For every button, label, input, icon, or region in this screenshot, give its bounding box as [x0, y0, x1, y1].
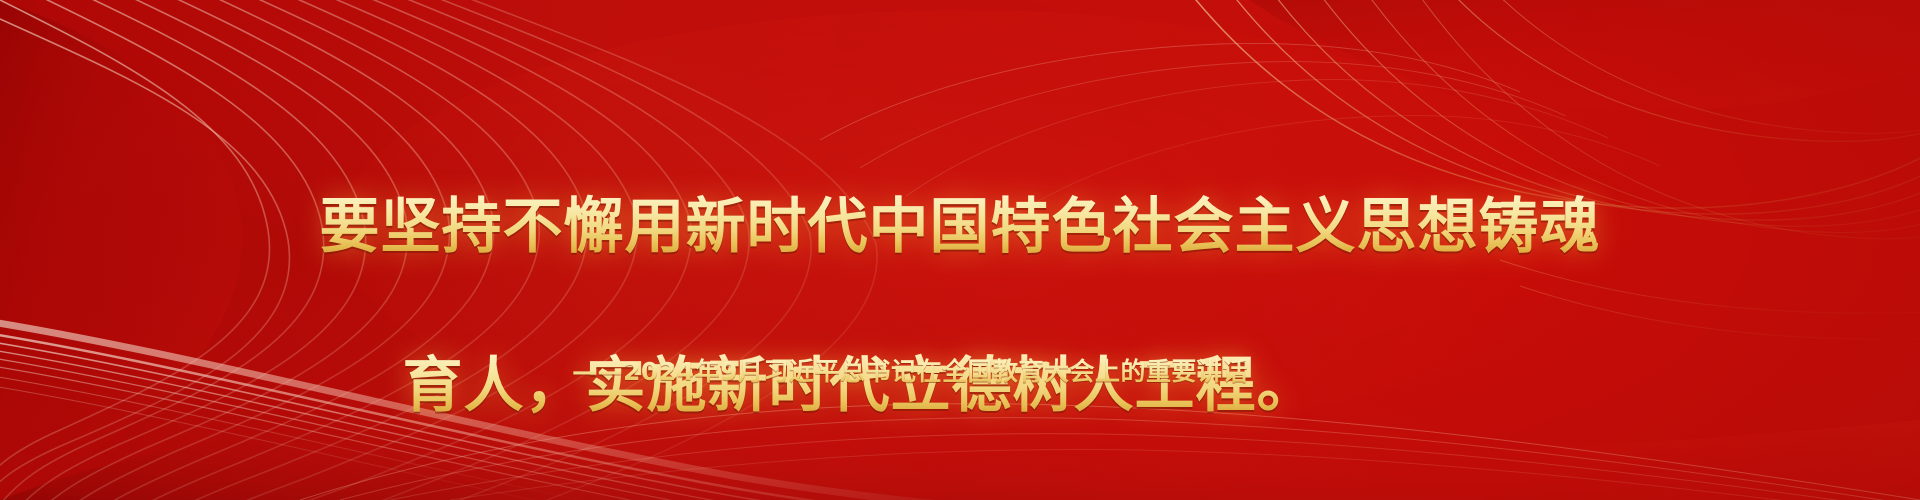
attribution-line: ——2024年9月习近平总书记在全国教育大会上的重要讲话 [0, 352, 1920, 388]
attribution-text: ——2024年9月习近平总书记在全国教育大会上的重要讲话 [572, 357, 1248, 386]
banner-content: 要坚持不懈用新时代中国特色社会主义思想铸魂 育人，实施新时代立德树人工程。 ——… [0, 0, 1920, 500]
slogan-line-1-text: 要坚持不懈用新时代中国特色社会主义思想铸魂 [320, 192, 1601, 262]
slogan-banner: 要坚持不懈用新时代中国特色社会主义思想铸魂 育人，实施新时代立德树人工程。 ——… [0, 0, 1920, 500]
slogan-quote: 要坚持不懈用新时代中国特色社会主义思想铸魂 育人，实施新时代立德树人工程。 [0, 108, 1920, 500]
slogan-line-1: 要坚持不懈用新时代中国特色社会主义思想铸魂 [0, 188, 1920, 268]
